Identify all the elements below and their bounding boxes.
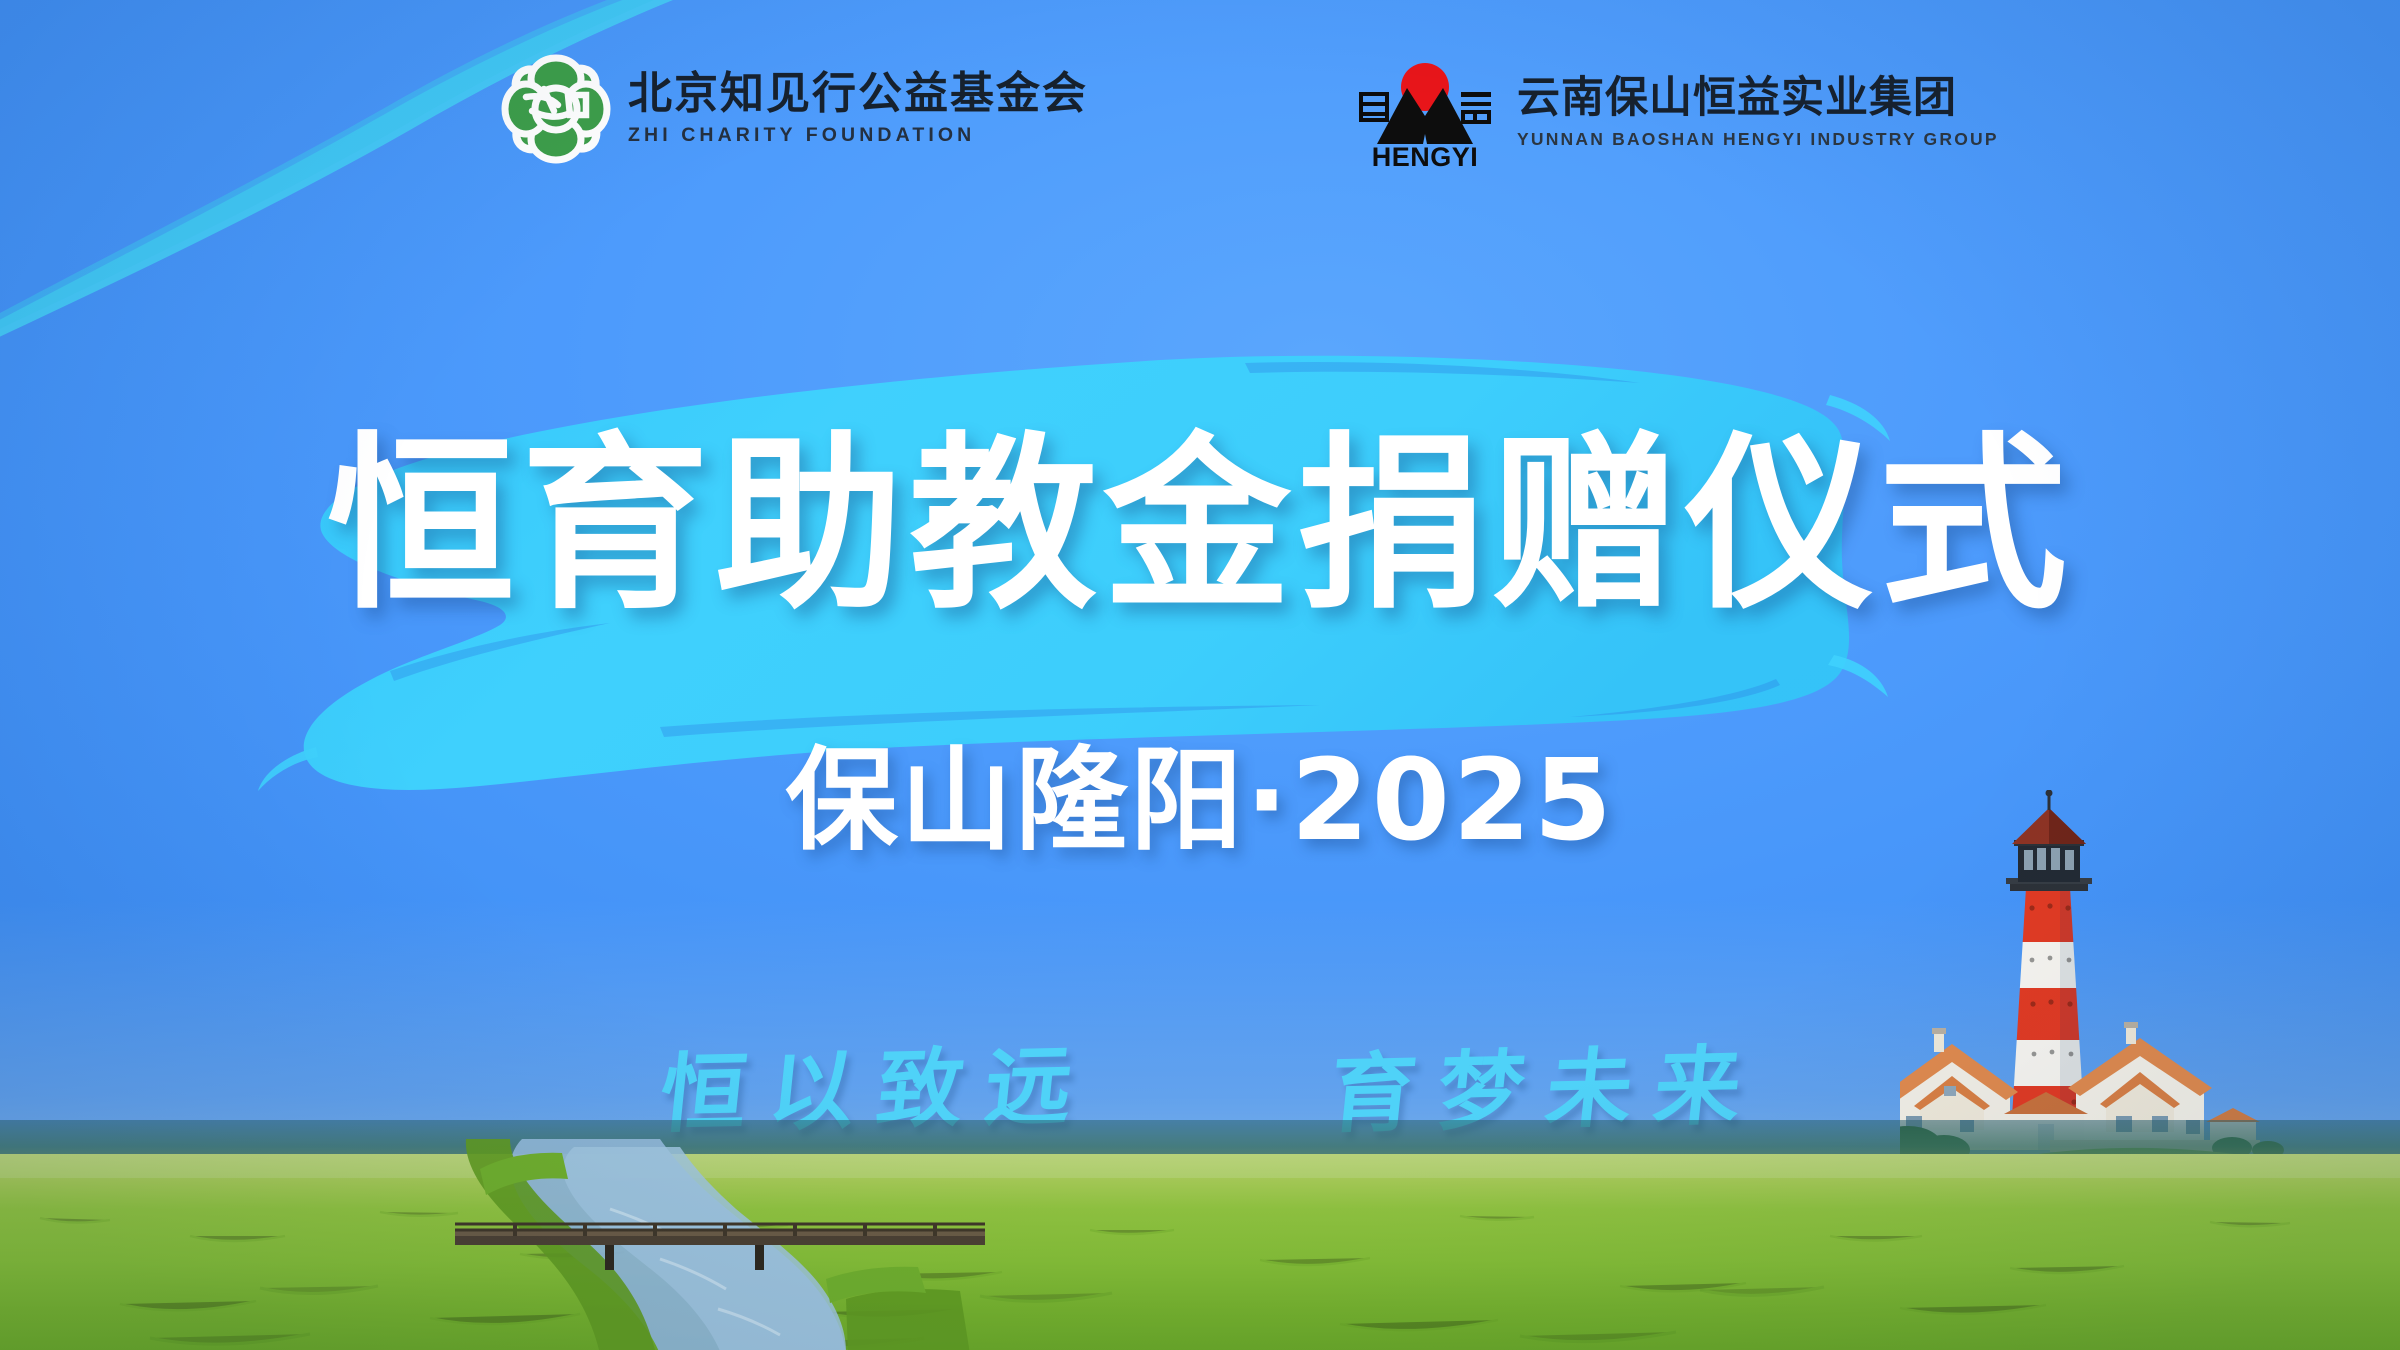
logo-hengyi-text: 云南保山恒益实业集团 YUNNAN BAOSHAN HENGYI INDUSTR…	[1517, 76, 1999, 149]
logo-zhi-text: 北京知见行公益基金会 ZHI CHARITY FOUNDATION	[628, 71, 1088, 146]
logo-zhi-name-cn: 北京知见行公益基金会	[628, 71, 1088, 117]
logo-hengyi-name-en: YUNNAN BAOSHAN HENGYI INDUSTRY GROUP	[1517, 130, 1999, 148]
meadow-landscape	[0, 1120, 2400, 1350]
svg-text:HENGYI: HENGYI	[1372, 142, 1479, 170]
wooden-bridge	[455, 1220, 985, 1270]
logo-yunnan-baoshan-hengyi: HENGYI 云南保山恒益实业集团 YUNNAN BAOSHAN HENGYI …	[1355, 54, 1999, 170]
logo-zhi-name-en: ZHI CHARITY FOUNDATION	[628, 125, 1088, 145]
page-title: 恒育助教金捐赠仪式	[0, 432, 2400, 620]
poster-canvas: 北京知见行公益基金会 ZHI CHARITY FOUNDATION	[0, 0, 2400, 1350]
logo-zhi-charity-foundation: 北京知见行公益基金会 ZHI CHARITY FOUNDATION	[500, 52, 1088, 164]
logo-row: 北京知见行公益基金会 ZHI CHARITY FOUNDATION	[0, 52, 2400, 172]
logo-hengyi-name-cn: 云南保山恒益实业集团	[1517, 76, 1999, 121]
four-leaf-clover-logo-icon	[500, 52, 612, 164]
hengyi-mountain-sun-logo-icon: HENGYI	[1355, 54, 1495, 170]
